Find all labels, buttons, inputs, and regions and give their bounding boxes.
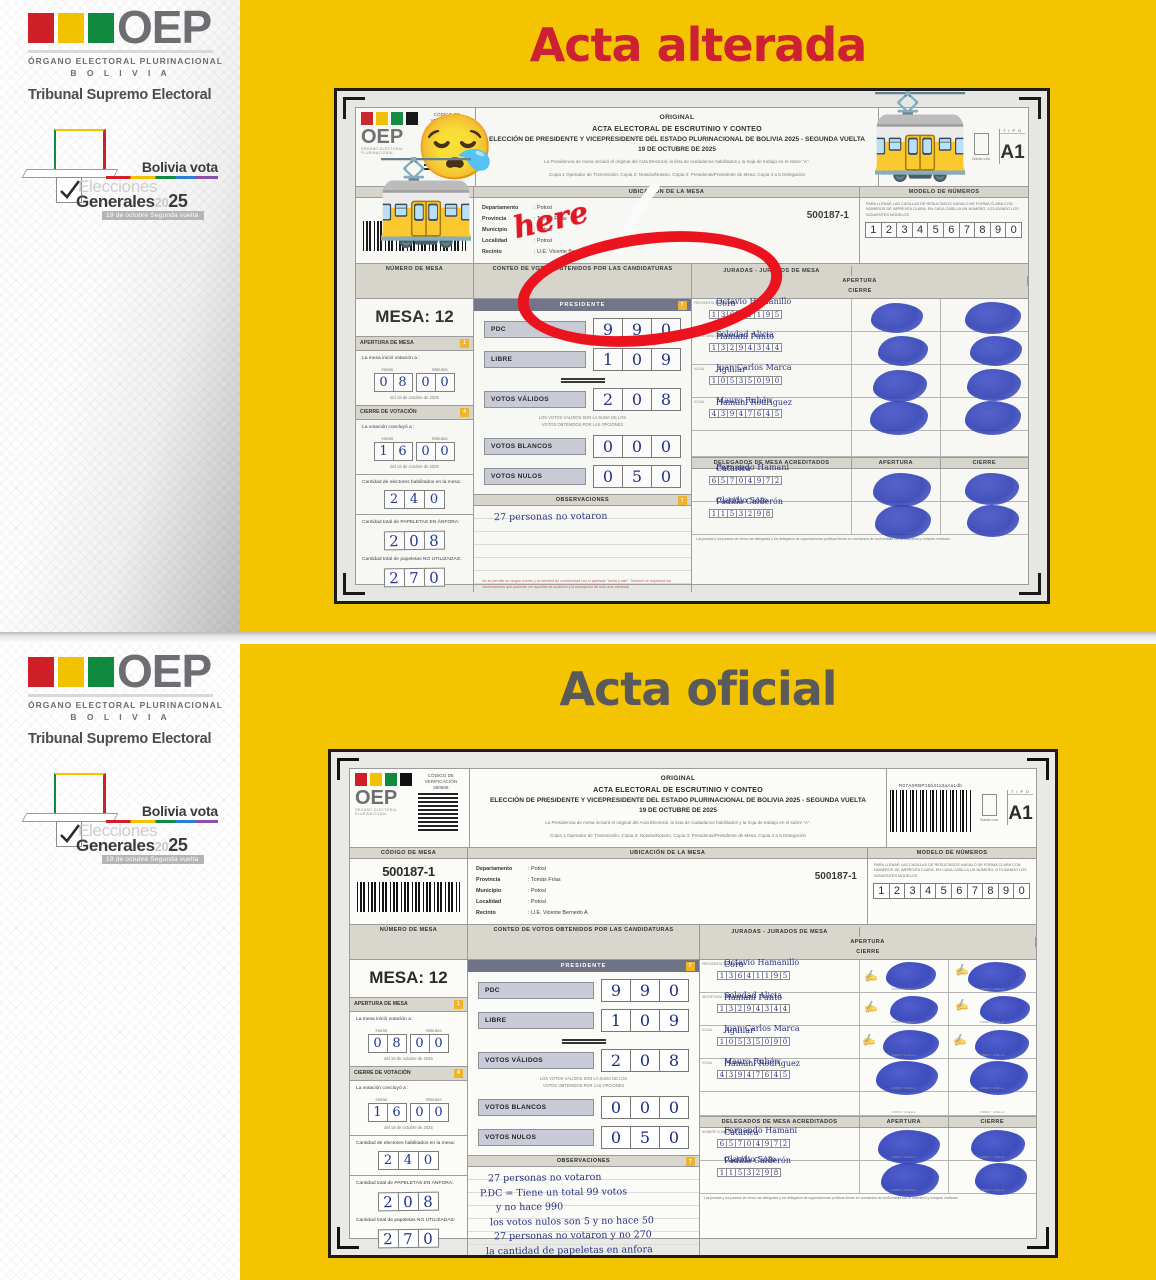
tram-emoji-icon-1: 🚋 xyxy=(375,163,477,245)
cierre-title: CIERRE DE VOTACIÓN xyxy=(360,409,417,415)
anfora-d2: 8 xyxy=(423,531,444,550)
sidebar-branding-top: OEP ÓRGANO ELECTORAL PLURINACIONAL B O L… xyxy=(0,0,240,632)
blancos-d2: 0 xyxy=(651,435,681,458)
cierre-min-1: 0 xyxy=(429,1103,449,1122)
campaign-year-prefix: 20 xyxy=(155,195,169,210)
acta-footer-fine: Las juradas y los jurados de mesa, las d… xyxy=(692,535,1028,544)
fingerprint-cell: FIRMA Y HUELLA xyxy=(860,1161,949,1193)
fingerprint-cell: FIRMA Y HUELLA xyxy=(949,1092,1037,1115)
stage-altered: Acta alterada xyxy=(240,0,1156,632)
band-delegados-apertura: APERTURA xyxy=(860,1117,949,1127)
validos-d0: 2 xyxy=(601,1049,631,1072)
modelo-digit-4: 5 xyxy=(935,883,952,899)
ubic-label-4: Recinto xyxy=(482,247,534,258)
fingerprint-cell xyxy=(941,398,1029,430)
fingerprint-cell xyxy=(941,299,1029,331)
acta-title-line1: ACTA ELECTORAL DE ESCRUTINIO Y CONTEO xyxy=(484,124,870,133)
oep-country: B O L I V I A xyxy=(28,712,213,722)
modelo-digit-4: 5 xyxy=(927,222,944,238)
oep-country: B O L I V I A xyxy=(28,68,213,78)
band-cierre: CIERRE xyxy=(700,947,1036,957)
apertura-badge: 1 xyxy=(460,339,469,348)
campaign-logo-top: Bolivia vota Elecciones Generales2025 19… xyxy=(42,129,218,207)
apertura-horas-label: Horas xyxy=(381,367,393,372)
band-ubicacion: UBICACIÓN DE LA MESA xyxy=(474,187,860,197)
jurado-0-doc-7: 5 xyxy=(772,310,782,319)
anfora-label: Cantidad total de PAPELETAS EN ÁNFORA: xyxy=(356,1180,461,1188)
pdc-d1: 9 xyxy=(630,979,660,1002)
infographic-page: OEP ÓRGANO ELECTORAL PLURINACIONAL B O L… xyxy=(0,0,1156,1280)
mesa-code: 500187-1 xyxy=(350,859,467,879)
band-conteo: CONTEO DE VOTOS OBTENIDOS POR LAS CANDID… xyxy=(468,925,700,959)
nulos-d2: 0 xyxy=(651,465,681,488)
noutil-d2: 0 xyxy=(423,568,444,587)
jurado-3-doc-7: 5 xyxy=(772,409,782,418)
apertura-min-1: 0 xyxy=(435,373,455,392)
acta-title-line3: 19 DE OCTUBRE DE 2025 xyxy=(478,807,878,814)
stage-official: Acta oficial xyxy=(240,644,1156,1280)
oep-institution: Tribunal Supremo Electoral xyxy=(28,731,240,747)
cierre-min-1: 0 xyxy=(435,442,455,461)
modelo-digit-6: 7 xyxy=(959,222,976,238)
ubic-value-4: : U.E. Vicente Bernedo A xyxy=(528,910,588,916)
apertura-horas-label: Horas xyxy=(375,1028,387,1033)
nulos-d1: 5 xyxy=(622,465,652,488)
fingerprint-cell: ✍FIRMA Y HUELLA xyxy=(860,1026,949,1058)
modelo-digit-5: 6 xyxy=(943,222,960,238)
firma-huella-label: FIRMA Y HUELLA xyxy=(860,1188,948,1192)
acta-title-line2: ELECCIÓN DE PRESIDENTE Y VICEPRESIDENTE … xyxy=(478,797,878,804)
firma-huella-label: FIRMA Y HUELLA xyxy=(949,1110,1037,1114)
cierre-footnote: del 19 de octubre de 2025 xyxy=(362,464,467,469)
acta-barcode-icon xyxy=(890,790,971,832)
tram-emoji-icon-2: 🚋 xyxy=(869,97,971,179)
firma-huella-label: FIRMA Y HUELLA xyxy=(949,1155,1037,1159)
modelo-digit-7: 8 xyxy=(982,883,999,899)
ubic-value-2: : Potosí xyxy=(528,888,546,894)
modelo-digit-8: 9 xyxy=(990,222,1007,238)
modelo-note: PARA LLENAR LAS CASILLAS DE RESULTADOS H… xyxy=(868,859,1036,882)
nulos-d1: 5 xyxy=(630,1126,660,1149)
apertura-hora-1: 8 xyxy=(393,373,413,392)
vote-row-name-blancos: VOTOS BLANCOS xyxy=(484,438,586,455)
cierre-horas-label: Horas xyxy=(381,436,393,441)
modelo-digit-2: 3 xyxy=(904,883,921,899)
acta-fine-print-2: Copia 1 Operador de Transmisión, Copia 2… xyxy=(484,171,870,179)
modelo-digit-3: 4 xyxy=(912,222,929,238)
band-codigo-mesa: CÓDIGO DE MESA xyxy=(350,848,468,858)
cierre-min-0: 0 xyxy=(410,1103,430,1122)
habilitados-d0: 2 xyxy=(384,490,405,509)
apertura-footnote: del 19 de octubre de 2025 xyxy=(356,1056,461,1061)
fingerprint-cell: FIRMA Y HUELLA xyxy=(949,1128,1037,1160)
libre-d2: 9 xyxy=(659,1009,689,1032)
oep-acronym: OEP xyxy=(117,654,211,690)
acta-barcode-text: R07A0RBP15b3113aAa1db xyxy=(890,783,971,788)
libre-d2: 9 xyxy=(651,348,681,371)
cierre-minutos-label: Minutos xyxy=(432,436,447,441)
title-acta-oficial: Acta oficial xyxy=(240,644,1156,716)
acta-fine-print-1: La Presidencia de mesa incluirá el origi… xyxy=(478,819,878,827)
habilitados-d0: 2 xyxy=(378,1151,399,1170)
obs-line-5: la cantidad de papeletas en anfora xyxy=(486,1242,691,1255)
modelo-digit-0: 1 xyxy=(873,883,890,899)
fingerprint-cell: FIRMA Y HUELLA xyxy=(860,1092,949,1115)
sidebar-branding-bottom: OEP ÓRGANO ELECTORAL PLURINACIONAL B O L… xyxy=(0,644,240,1280)
oep-logo-top: OEP ÓRGANO ELECTORAL PLURINACIONAL B O L… xyxy=(0,0,240,103)
validos-d1: 0 xyxy=(630,1049,660,1072)
cierre-horas-label: Horas xyxy=(375,1097,387,1102)
mesa-code-right: 500187-1 xyxy=(815,867,857,888)
oep-subtitle: ÓRGANO ELECTORAL PLURINACIONAL xyxy=(28,700,240,710)
modelo-digit-row: 1 2 3 4 5 6 7 8 9 0 xyxy=(874,883,1030,899)
noutil-d0: 2 xyxy=(377,1229,398,1248)
observaciones-area: 27 personas no votaron P.DC = Tiene un t… xyxy=(468,1167,699,1255)
band-ubicacion: UBICACIÓN DE LA MESA xyxy=(468,848,868,858)
fingerprint-cell: ✍FIRMA Y HUELLA xyxy=(860,960,949,992)
firma-huella-label: FIRMA Y HUELLA xyxy=(949,1086,1037,1090)
modelo-digit-8: 9 xyxy=(998,883,1015,899)
jurado-name2-1: Hamani Punto xyxy=(716,333,849,342)
oep-color-swatches-icon xyxy=(28,657,114,687)
anfora-d2: 8 xyxy=(417,1192,438,1211)
firma-huella-label: FIRMA Y HUELLA xyxy=(860,1086,948,1090)
acta-oep-subtitle: ÓRGANO ELECTORAL PLURINACIONAL xyxy=(355,808,414,816)
acta-stamp-note: Bolivia vota xyxy=(974,818,1004,822)
apertura-hora-0: 0 xyxy=(368,1034,388,1053)
acta-tipo-label: T I P O xyxy=(1008,790,1033,795)
modelo-digit-1: 2 xyxy=(889,883,906,899)
acta-tipo-value: A1 xyxy=(1000,142,1025,164)
habilitados-label: Cantidad de electores habilitados en la … xyxy=(356,1140,461,1148)
vote-row-name-nulos: VOTOS NULOS xyxy=(478,1129,594,1146)
modelo-digit-0: 1 xyxy=(865,222,882,238)
acta-title-line2: ELECCIÓN DE PRESIDENTE Y VICEPRESIDENTE … xyxy=(484,136,870,143)
band-numero-mesa: NÚMERO DE MESA xyxy=(356,264,474,298)
acta-title-line1: ACTA ELECTORAL DE ESCRUTINIO Y CONTEO xyxy=(478,785,878,794)
firma-huella-label: FIRMA Y HUELLA xyxy=(949,987,1037,991)
cierre-text: La votación concluyó a : xyxy=(362,424,467,432)
cierre-hora-0: 1 xyxy=(374,442,394,461)
cierre-footnote: del 19 de octubre de 2025 xyxy=(356,1125,461,1130)
delegado-1-doc-6: 8 xyxy=(771,1168,781,1177)
anfora-label: Cantidad total de PAPELETAS EN ÁNFORA: xyxy=(362,519,467,527)
presidente-badge: 7 xyxy=(686,962,695,971)
nulos-d2: 0 xyxy=(659,1126,689,1149)
delegado-1-doc-6: 8 xyxy=(763,509,773,518)
apertura-text: La mesa inició votación a : xyxy=(362,355,467,363)
acta-stamp: Bolivia vota xyxy=(974,794,1004,822)
libre-d1: 0 xyxy=(622,348,652,371)
band-jurados: JURADAS - JURADOS DE MESA xyxy=(700,927,860,937)
firma-huella-label: FIRMA Y HUELLA xyxy=(860,1110,948,1114)
fingerprint-cell xyxy=(852,332,941,364)
campaign-year-suffix: 25 xyxy=(168,191,187,211)
observaciones-badge: 7 xyxy=(686,1157,695,1166)
apertura-minutos-label: Minutos xyxy=(432,367,447,372)
noutil-d0: 2 xyxy=(383,568,404,587)
cierre-badge: 4 xyxy=(454,1069,463,1078)
vote-row-name-libre: LIBRE xyxy=(478,1012,594,1029)
acta-tipo-label: T I P O xyxy=(1000,129,1025,134)
habilitados-d2: 0 xyxy=(418,1151,439,1170)
sum-line-icon xyxy=(561,378,605,383)
fingerprint-cell: FIRMA Y HUELLA xyxy=(949,1161,1037,1193)
cierre-minutos-label: Minutos xyxy=(426,1097,441,1102)
acta-fine-print-1: La Presidencia de mesa incluirá el origi… xyxy=(484,158,870,166)
ubic-label-1: Provincia xyxy=(476,875,528,886)
campaign-footnote: 19 de octubre Segunda vuelta xyxy=(102,211,204,220)
anfora-d1: 0 xyxy=(403,531,424,550)
firma-huella-label: FIRMA Y HUELLA xyxy=(860,1053,948,1057)
anfora-d1: 0 xyxy=(397,1192,418,1211)
title-acta-alterada: Acta alterada xyxy=(240,0,1156,72)
jurado-3-doc-7: 5 xyxy=(780,1070,790,1079)
acta-oep-subtitle: ÓRGANO ELECTORAL PLURINACIONAL xyxy=(361,147,420,155)
band-observaciones: OBSERVACIONES xyxy=(556,497,609,503)
band-modelo: MODELO DE NÚMEROS xyxy=(868,848,1036,858)
acta-sheet-altered: OEP ÓRGANO ELECTORAL PLURINACIONAL CÓDIG… xyxy=(337,91,1047,601)
firma-huella-label: FIRMA Y HUELLA xyxy=(860,1020,948,1024)
apertura-min-0: 0 xyxy=(416,373,436,392)
jurado-1-doc-7: 4 xyxy=(772,343,782,352)
firma-huella-label: FIRMA Y HUELLA xyxy=(949,1020,1037,1024)
nulos-d0: 0 xyxy=(593,465,623,488)
anfora-d0: 2 xyxy=(377,1192,398,1211)
campaign-year-suffix: 25 xyxy=(168,835,187,855)
fingerprint-cell: FIRMA Y HUELLA xyxy=(949,1059,1037,1091)
modelo-digit-1: 2 xyxy=(881,222,898,238)
habilitados-d1: 4 xyxy=(404,490,425,509)
modelo-digit-7: 8 xyxy=(974,222,991,238)
observaciones-area: 27 personas no votaron No se permite en … xyxy=(474,506,691,592)
apertura-minutos-label: Minutos xyxy=(426,1028,441,1033)
cierre-text: La votación concluyó a : xyxy=(356,1085,461,1093)
fingerprint-cell: ✍FIRMA Y HUELLA xyxy=(860,993,949,1025)
apertura-hora-0: 0 xyxy=(374,373,394,392)
fingerprint-cell: ✍FIRMA Y HUELLA xyxy=(949,960,1037,992)
acta-image-official: OEP ÓRGANO ELECTORAL PLURINACIONAL CÓDIG… xyxy=(328,749,1058,1258)
blancos-d1: 0 xyxy=(630,1096,660,1119)
modelo-digit-5: 6 xyxy=(951,883,968,899)
no-utilizadas-label: Cantidad total de papeletas NO UTILIZADA… xyxy=(356,1217,461,1225)
verification-label: CÓDIGO DE VERIFICACIÓN xyxy=(418,773,464,785)
sum-line-icon xyxy=(562,1039,606,1044)
apertura-title: APERTURA DE MESA xyxy=(354,1001,408,1007)
panel-acta-alterada: OEP ÓRGANO ELECTORAL PLURINACIONAL B O L… xyxy=(0,0,1156,632)
fingerprint-cell: FIRMA Y HUELLA xyxy=(860,1059,949,1091)
fingerprint-cell xyxy=(852,365,941,397)
fingerprint-cell xyxy=(852,398,941,430)
fingerprint-cell xyxy=(941,502,1029,534)
validos-d0: 2 xyxy=(593,388,623,411)
acta-original-label: ORIGINAL xyxy=(484,114,870,121)
modelo-note: PARA LLENAR LAS CASILLAS DE RESULTADOS H… xyxy=(860,198,1028,221)
oep-subtitle: ÓRGANO ELECTORAL PLURINACIONAL xyxy=(28,56,240,66)
fingerprint-cell: ✍FIRMA Y HUELLA xyxy=(949,1026,1037,1058)
vote-row-name-libre: LIBRE xyxy=(484,351,586,368)
delegado-0-doc-7: 2 xyxy=(772,476,782,485)
acta-oep-acronym: OEP xyxy=(355,788,414,808)
apertura-badge: 1 xyxy=(454,1000,463,1009)
band-numero-mesa: NÚMERO DE MESA xyxy=(350,925,468,959)
obs-line-0: 27 personas no votaron xyxy=(494,509,683,526)
oep-color-swatches-icon xyxy=(28,13,114,43)
qr-code-icon xyxy=(418,791,458,831)
acta-oep-swatches-icon xyxy=(355,773,414,786)
acta-footer-fine: Las juradas y los jurados de mesa, las d… xyxy=(700,1194,1036,1203)
acta-original-label: ORIGINAL xyxy=(478,775,878,782)
acta-fine-print-2: Copia 1 Operador de Transmisión, Copia 2… xyxy=(478,832,878,840)
band-apertura: APERTURA xyxy=(700,937,1036,947)
jurado-2-doc-7: 0 xyxy=(780,1037,790,1046)
campaign-logo-bottom: Bolivia vota Elecciones Generales2025 19… xyxy=(42,773,218,851)
jurado-name2-3: Hamani Rodríguez xyxy=(724,1060,857,1069)
blancos-d0: 0 xyxy=(601,1096,631,1119)
ubic-value-3: : Potosí xyxy=(528,899,546,905)
modelo-digit-row: 1 2 3 4 5 6 7 8 9 0 xyxy=(866,222,1022,238)
libre-d1: 0 xyxy=(630,1009,660,1032)
validos-d1: 0 xyxy=(622,388,652,411)
acta-image-altered: OEP ÓRGANO ELECTORAL PLURINACIONAL CÓDIG… xyxy=(334,88,1050,604)
cierre-min-0: 0 xyxy=(416,442,436,461)
cierre-hora-1: 6 xyxy=(393,442,413,461)
ubic-value-0: : Potosí xyxy=(528,866,546,872)
jurado-1-doc-7: 4 xyxy=(780,1004,790,1013)
band-observaciones: OBSERVACIONES xyxy=(557,1158,610,1164)
vote-row-name-pdc: PDC xyxy=(478,982,594,999)
cierre-badge: 4 xyxy=(460,408,469,417)
acta-sheet-official: OEP ÓRGANO ELECTORAL PLURINACIONAL CÓDIG… xyxy=(331,752,1055,1255)
libre-d0: 1 xyxy=(593,348,623,371)
modelo-digit-2: 3 xyxy=(896,222,913,238)
vote-row-name-validos: VOTOS VÁLIDOS xyxy=(484,391,586,408)
blancos-d2: 0 xyxy=(659,1096,689,1119)
validos-note-2: VOTOS OBTENIDOS POR LAS OPCIONES xyxy=(484,422,681,429)
observaciones-fine-print: No se permite en ningún evento y se admi… xyxy=(482,579,691,590)
mesa-number: MESA: 12 xyxy=(350,960,467,998)
habilitados-label: Cantidad de electores habilitados en la … xyxy=(362,479,467,487)
jurado-2-doc-7: 0 xyxy=(772,376,782,385)
modelo-digit-6: 7 xyxy=(967,883,984,899)
blancos-d0: 0 xyxy=(593,435,623,458)
noutil-d2: 0 xyxy=(417,1229,438,1248)
noutil-d1: 7 xyxy=(403,568,424,587)
pdc-d2: 0 xyxy=(659,979,689,1002)
fingerprint-cell xyxy=(852,502,941,534)
validos-note-1: LOS VOTOS VÁLIDOS SON LA SUMA DE LOS xyxy=(484,415,681,422)
firma-huella-label: FIRMA Y HUELLA xyxy=(949,1188,1037,1192)
apertura-min-1: 0 xyxy=(429,1034,449,1053)
pdc-d0: 9 xyxy=(601,979,631,1002)
band-delegados-apertura: APERTURA xyxy=(852,458,941,468)
firma-huella-label: FIRMA Y HUELLA xyxy=(860,987,948,991)
ubic-value-1: : Tomás Frías xyxy=(528,877,561,883)
fingerprint-cell xyxy=(941,332,1029,364)
apertura-text: La mesa inició votación a : xyxy=(356,1016,461,1024)
noutil-d1: 7 xyxy=(397,1229,418,1248)
firma-huella-label: FIRMA Y HUELLA xyxy=(949,1053,1037,1057)
modelo-digit-9: 0 xyxy=(1013,883,1030,899)
campaign-year-prefix: 20 xyxy=(155,839,169,854)
blancos-d1: 0 xyxy=(622,435,652,458)
jurado-0-doc-7: 5 xyxy=(780,971,790,980)
campaign-tagline: Bolivia vota xyxy=(142,803,218,819)
apertura-footnote: del 19 de octubre de 2025 xyxy=(362,395,467,400)
mesa-barcode-icon xyxy=(357,882,460,912)
campaign-tagline: Bolivia vota xyxy=(142,159,218,175)
vote-row-name-blancos: VOTOS BLANCOS xyxy=(478,1099,594,1116)
observaciones-badge: 7 xyxy=(678,496,687,505)
campaign-footnote: 19 de octubre Segunda vuelta xyxy=(102,855,204,864)
delegado-name2-1: Padilla Calderón xyxy=(724,1157,857,1166)
cierre-hora-1: 6 xyxy=(387,1103,407,1122)
nulos-d0: 0 xyxy=(601,1126,631,1149)
fingerprint-cell: FIRMA Y HUELLA xyxy=(860,1128,949,1160)
vote-row-name-nulos: VOTOS NULOS xyxy=(484,468,586,485)
jurado-name2-3: Hamani Rodríguez xyxy=(716,399,849,408)
acta-tipo-value: A1 xyxy=(1008,803,1033,825)
ubic-label-0: Departamento xyxy=(476,864,528,875)
vote-row-name-validos: VOTOS VÁLIDOS xyxy=(478,1052,594,1069)
modelo-digit-3: 4 xyxy=(920,883,937,899)
mesa-code-right: 500187-1 xyxy=(807,206,849,227)
delegado-0-doc-7: 2 xyxy=(780,1139,790,1148)
delegado-name2-1: Padilla Calderón xyxy=(716,498,849,507)
fingerprint-cell xyxy=(852,299,941,331)
validos-note-1: LOS VOTOS VÁLIDOS SON LA SUMA DE LOS xyxy=(478,1076,689,1083)
validos-d2: 8 xyxy=(659,1049,689,1072)
validos-note-2: VOTOS OBTENIDOS POR LAS OPCIONES xyxy=(478,1083,689,1090)
jurado-name2-1: Hamani Punto xyxy=(724,994,857,1003)
ubicacion-list: Departamento: Potosí Provincia: Tomás Fr… xyxy=(468,859,868,924)
apertura-min-0: 0 xyxy=(410,1034,430,1053)
apertura-title: APERTURA DE MESA xyxy=(360,340,414,346)
libre-d0: 1 xyxy=(601,1009,631,1032)
ubic-label-3: Localidad xyxy=(476,897,528,908)
fingerprint-cell: ✍FIRMA Y HUELLA xyxy=(949,993,1037,1025)
panel-separator xyxy=(0,632,1156,644)
campaign-line2: Generales xyxy=(76,836,155,855)
firma-huella-label: FIRMA Y HUELLA xyxy=(860,1155,948,1159)
apertura-hora-1: 8 xyxy=(387,1034,407,1053)
acta-oep-acronym: OEP xyxy=(361,127,420,147)
oep-institution: Tribunal Supremo Electoral xyxy=(28,87,240,103)
fingerprint-cell xyxy=(941,365,1029,397)
ubic-label-4: Recinto xyxy=(476,908,528,919)
band-delegados-cierre: CIERRE xyxy=(949,1117,1037,1127)
habilitados-d1: 4 xyxy=(398,1151,419,1170)
ubic-label-2: Municipio xyxy=(476,886,528,897)
band-presidente: PRESIDENTE xyxy=(561,963,607,969)
oep-acronym: OEP xyxy=(117,10,211,46)
modelo-digit-9: 0 xyxy=(1005,222,1022,238)
validos-d2: 8 xyxy=(651,388,681,411)
panel-acta-oficial: OEP ÓRGANO ELECTORAL PLURINACIONAL B O L… xyxy=(0,644,1156,1280)
cierre-title: CIERRE DE VOTACIÓN xyxy=(354,1070,411,1076)
no-utilizadas-label: Cantidad total de papeletas NO UTILIZADA… xyxy=(362,556,467,564)
cierre-hora-0: 1 xyxy=(368,1103,388,1122)
fingerprint-cell xyxy=(852,469,941,501)
anfora-d0: 2 xyxy=(383,531,404,550)
mesa-number: MESA: 12 xyxy=(356,299,473,337)
band-modelo: MODELO DE NÚMEROS xyxy=(860,187,1028,197)
fingerprint-cell xyxy=(941,469,1029,501)
campaign-line2: Generales xyxy=(76,192,155,211)
acta-title-line3: 19 DE OCTUBRE DE 2025 xyxy=(484,146,870,153)
habilitados-d2: 0 xyxy=(424,490,445,509)
oep-logo-bottom: OEP ÓRGANO ELECTORAL PLURINACIONAL B O L… xyxy=(0,644,240,747)
